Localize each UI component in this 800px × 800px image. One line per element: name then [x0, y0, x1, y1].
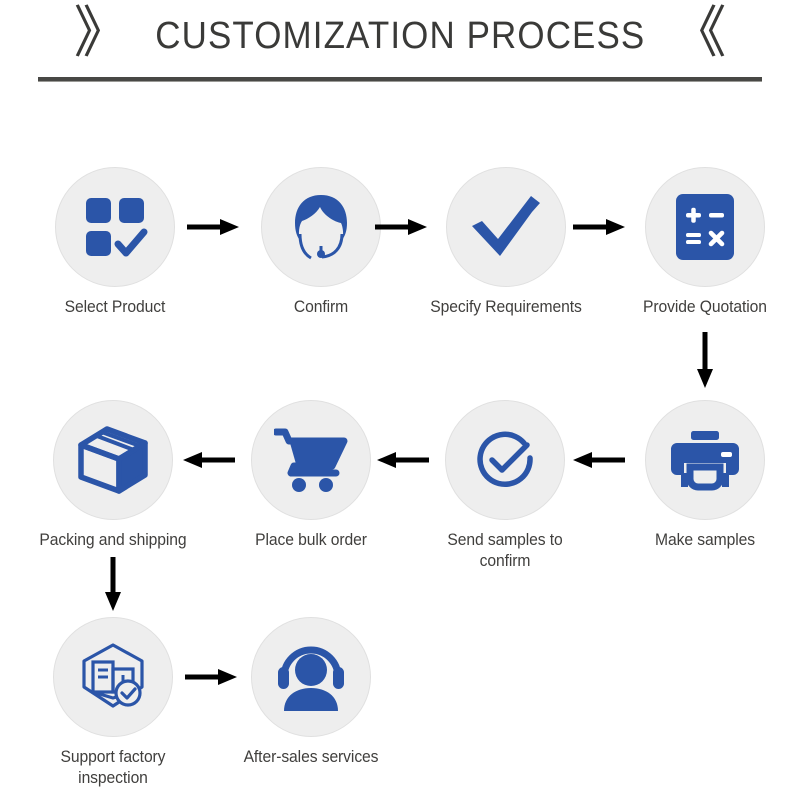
- step-icon-circle: [251, 617, 371, 737]
- factory-shield-check-icon: [77, 642, 149, 712]
- grid-check-icon: [82, 194, 148, 260]
- step-label: Select Product: [39, 297, 191, 318]
- arrow-confirm-to-specify: [375, 215, 427, 239]
- arrow-specify-to-quotation: [573, 215, 625, 239]
- step-after-sales-services[interactable]: After-sales services: [231, 617, 391, 768]
- step-label: Provide Quotation: [629, 297, 781, 318]
- step-confirm[interactable]: Confirm: [241, 167, 401, 318]
- step-icon-circle: [645, 167, 765, 287]
- step-label: Specify Requirements: [430, 297, 582, 318]
- step-packing-and-shipping[interactable]: Packing and shipping: [33, 400, 193, 551]
- step-label: Make samples: [629, 530, 781, 551]
- arrow-select-to-confirm: [187, 215, 239, 239]
- step-support-factory-inspection[interactable]: Support factory inspection: [33, 617, 193, 789]
- step-select-product[interactable]: Select Product: [35, 167, 195, 318]
- package-box-icon: [77, 425, 149, 495]
- step-label: Place bulk order: [235, 530, 387, 551]
- process-flow: Select Product Confirm Speci: [0, 0, 800, 800]
- arrow-quotation-to-make-samples: [693, 332, 717, 388]
- step-place-bulk-order[interactable]: Place bulk order: [231, 400, 391, 551]
- arrow-packing-to-inspection: [101, 557, 125, 611]
- step-label: Send samples to confirm: [429, 530, 581, 572]
- arrow-make-samples-to-send: [573, 448, 625, 472]
- step-icon-circle: [251, 400, 371, 520]
- step-icon-circle: [55, 167, 175, 287]
- shopping-cart-icon: [274, 427, 348, 493]
- arrow-inspection-to-after-sales: [185, 665, 237, 689]
- step-specify-requirements[interactable]: Specify Requirements: [426, 167, 586, 318]
- step-label: Packing and shipping: [37, 530, 189, 551]
- step-make-samples[interactable]: Make samples: [625, 400, 785, 551]
- arrow-bulk-order-to-packing: [183, 448, 235, 472]
- printer-icon: [669, 429, 741, 491]
- headset-woman-icon: [284, 190, 358, 264]
- calculator-icon: [674, 192, 736, 262]
- circle-check-icon: [469, 424, 541, 496]
- headset-support-icon: [274, 643, 348, 711]
- step-send-samples-to-confirm[interactable]: Send samples to confirm: [425, 400, 585, 572]
- step-label: Confirm: [245, 297, 397, 318]
- step-icon-circle: [53, 617, 173, 737]
- checkmark-icon: [468, 192, 544, 262]
- step-label: Support factory inspection: [37, 747, 189, 789]
- step-icon-circle: [645, 400, 765, 520]
- arrow-send-to-bulk-order: [377, 448, 429, 472]
- step-icon-circle: [445, 400, 565, 520]
- step-provide-quotation[interactable]: Provide Quotation: [625, 167, 785, 318]
- step-label: After-sales services: [235, 747, 387, 768]
- step-icon-circle: [446, 167, 566, 287]
- step-icon-circle: [261, 167, 381, 287]
- step-icon-circle: [53, 400, 173, 520]
